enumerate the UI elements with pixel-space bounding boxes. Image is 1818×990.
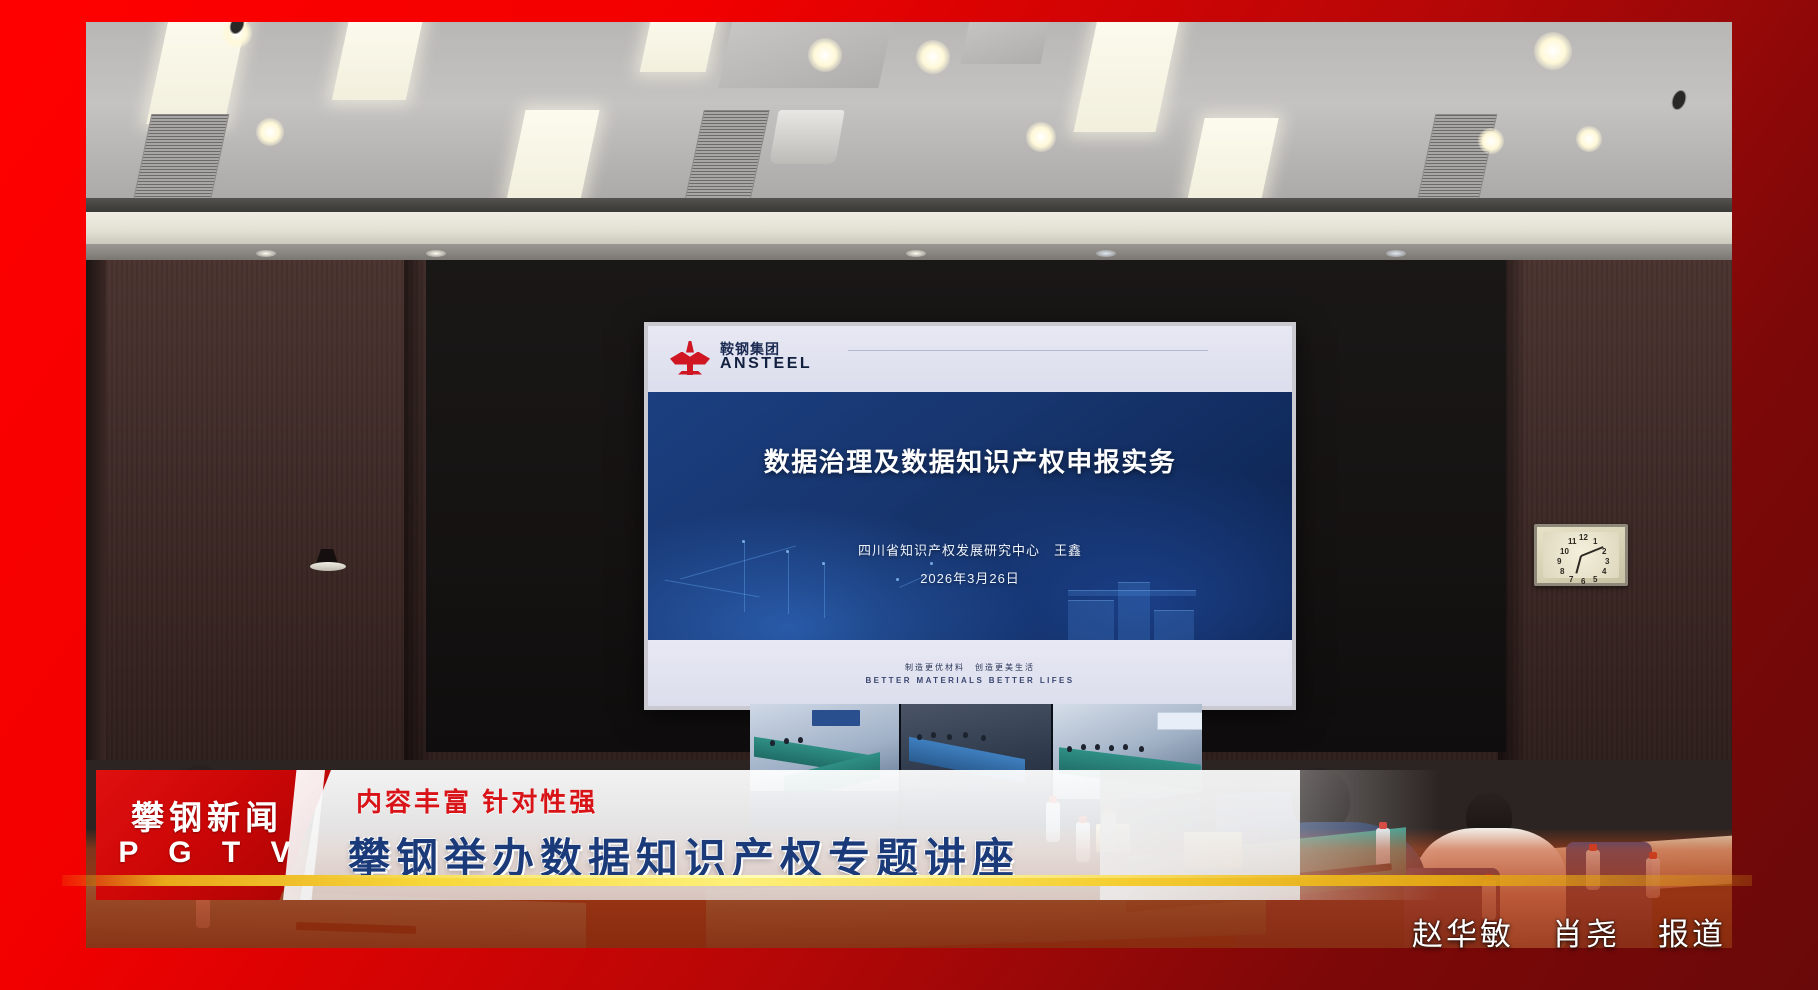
slide-brand-cn: 鞍钢集团 <box>720 342 812 357</box>
wall-edge-left <box>86 260 106 760</box>
banner-accent-highlight <box>300 875 1330 878</box>
clock-numeral: 12 <box>1579 533 1588 542</box>
slide-body: 数据治理及数据知识产权申报实务 四川省知识产权发展研究中心 王鑫 2026年3月… <box>648 392 1292 640</box>
slide-header: 鞍钢集团 ANSTEEL <box>648 326 1292 389</box>
clock-numeral: 5 <box>1593 575 1597 584</box>
channel-name-en: P G T V <box>118 836 301 871</box>
slide-footer: 制造更优材料 创造更美生活 BETTER MATERIALS BETTER LI… <box>648 640 1292 706</box>
clock-numeral: 1 <box>1593 537 1597 546</box>
clock-numeral: 3 <box>1605 557 1609 566</box>
slide-brand-en: ANSTEEL <box>720 356 812 373</box>
credit-reporter-1: 赵华敏 <box>1412 909 1514 954</box>
ceiling <box>86 22 1732 227</box>
clock-numeral: 4 <box>1602 567 1606 576</box>
clock-numeral: 6 <box>1581 577 1585 586</box>
reporter-credits: 赵华敏 肖尧 报道 <box>1412 909 1726 954</box>
slide-slogan-cn: 制造更优材料 创造更美生活 <box>905 662 1035 673</box>
wall-clock: 12 1 2 3 4 5 6 7 8 9 10 11 <box>1534 524 1628 586</box>
clock-numeral: 10 <box>1560 547 1569 556</box>
slide-title: 数据治理及数据知识产权申报实务 <box>648 442 1292 479</box>
clock-numeral: 11 <box>1568 537 1576 546</box>
broadcast-frame: 12 1 2 3 4 5 6 7 8 9 10 11 <box>0 0 1818 990</box>
slide-header-rule <box>848 350 1208 351</box>
ansteel-logo-icon <box>670 341 710 375</box>
clock-numeral: 2 <box>1602 547 1606 556</box>
ceiling-gap <box>86 198 1732 212</box>
presentation-slide: 鞍钢集团 ANSTEEL <box>648 326 1292 706</box>
soffit <box>86 212 1732 246</box>
slide-presenter: 四川省知识产权发展研究中心 王鑫 <box>648 540 1292 559</box>
clock-numeral: 9 <box>1557 557 1561 566</box>
clock-numeral: 7 <box>1569 575 1573 584</box>
channel-name-cn: 攀钢新闻 <box>131 800 283 836</box>
slide-date: 2026年3月26日 <box>648 568 1292 587</box>
clock-numeral: 8 <box>1560 567 1564 576</box>
banner-kicker: 内容丰富 针对性强 <box>356 782 598 819</box>
lower-third-banner: 攀钢新闻 P G T V 内容丰富 针对性强 攀钢举办数据知识产权专题讲座 <box>0 745 1818 900</box>
credit-reporter-2: 肖尧 <box>1552 909 1620 954</box>
credit-role: 报道 <box>1658 909 1726 954</box>
wall-lamp <box>310 549 346 575</box>
projection-screen: 鞍钢集团 ANSTEEL <box>644 322 1296 710</box>
slide-slogan-en: BETTER MATERIALS BETTER LIFES <box>865 676 1074 685</box>
